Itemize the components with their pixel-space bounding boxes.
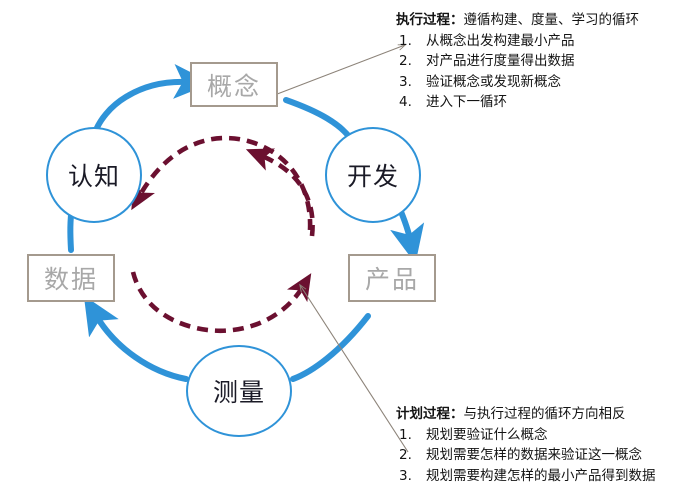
list-item-text: 规划需要构建怎样的最小产品得到数据 — [426, 466, 656, 485]
node-develop[interactable]: 开发 — [325, 127, 421, 223]
list-item-number: 4. — [396, 92, 426, 113]
node-cognition-label: 认知 — [68, 157, 120, 193]
node-product-label: 产品 — [365, 260, 419, 296]
node-cognition[interactable]: 认知 — [46, 127, 142, 223]
list-item-number: 1. — [396, 31, 426, 52]
list-item: 4. 进入下一循环 — [396, 92, 639, 113]
list-item-text: 从概念出发构建最小产品 — [426, 31, 575, 52]
node-data[interactable]: 数据 — [27, 254, 115, 302]
annotation-planning-heading: 计划过程：与执行过程的循环方向相反 — [396, 404, 656, 425]
list-item-text: 对产品进行度量得出数据 — [426, 51, 575, 72]
annotation-planning-heading-bold: 计划过程： — [396, 406, 464, 422]
arrow-product-to-measure — [293, 316, 368, 379]
list-item: 1. 从概念出发构建最小产品 — [396, 31, 639, 52]
node-measure-label: 测量 — [213, 373, 265, 409]
node-measure[interactable]: 测量 — [186, 345, 292, 437]
inner-dashed-arrowhead-top — [262, 156, 313, 236]
list-item-number: 3. — [396, 466, 426, 485]
annotation-execution-heading: 执行过程：遵循构建、度量、学习的循环 — [396, 10, 639, 31]
list-item-number: 2. — [396, 445, 426, 466]
node-product[interactable]: 产品 — [348, 254, 436, 302]
annotation-planning-list: 1. 规划要验证什么概念 2. 规划需要怎样的数据来验证这一概念 3. 规划需要… — [396, 425, 656, 485]
list-item: 3. 规划需要构建怎样的最小产品得到数据 — [396, 466, 656, 485]
diagram-canvas: 概念 认知 开发 数据 产品 测量 执行过程：遵循构建、度量、学习的循环 1. … — [0, 0, 678, 485]
annotation-execution-heading-rest: 遵循构建、度量、学习的循环 — [464, 12, 640, 28]
list-item: 1. 规划要验证什么概念 — [396, 425, 656, 446]
arrow-cognition-to-concept — [94, 82, 187, 135]
arrow-measure-to-data — [97, 317, 186, 379]
annotation-execution-heading-bold: 执行过程： — [396, 12, 464, 28]
node-data-label: 数据 — [44, 260, 98, 296]
list-item-text: 进入下一循环 — [426, 92, 507, 113]
inner-dashed-arc-upper — [140, 138, 310, 230]
list-item-number: 1. — [396, 425, 426, 446]
annotation-execution: 执行过程：遵循构建、度量、学习的循环 1. 从概念出发构建最小产品 2. 对产品… — [396, 10, 639, 113]
list-item-number: 3. — [396, 72, 426, 93]
leader-line-execution — [272, 45, 405, 96]
list-item-number: 2. — [396, 51, 426, 72]
list-item: 2. 规划需要怎样的数据来验证这一概念 — [396, 445, 656, 466]
list-item: 3. 验证概念或发现新概念 — [396, 72, 639, 93]
node-concept-label: 概念 — [207, 67, 261, 103]
annotation-execution-list: 1. 从概念出发构建最小产品 2. 对产品进行度量得出数据 3. 验证概念或发现… — [396, 31, 639, 113]
node-develop-label: 开发 — [347, 157, 399, 193]
list-item-text: 验证概念或发现新概念 — [426, 72, 561, 93]
annotation-planning: 计划过程：与执行过程的循环方向相反 1. 规划要验证什么概念 2. 规划需要怎样… — [396, 404, 656, 485]
node-concept[interactable]: 概念 — [190, 62, 278, 107]
list-item-text: 规划要验证什么概念 — [426, 425, 548, 446]
inner-dashed-arc-lower — [133, 272, 302, 331]
arrow-concept-to-develop — [286, 100, 351, 139]
annotation-planning-heading-rest: 与执行过程的循环方向相反 — [464, 406, 626, 422]
list-item-text: 规划需要怎样的数据来验证这一概念 — [426, 445, 642, 466]
list-item: 2. 对产品进行度量得出数据 — [396, 51, 639, 72]
